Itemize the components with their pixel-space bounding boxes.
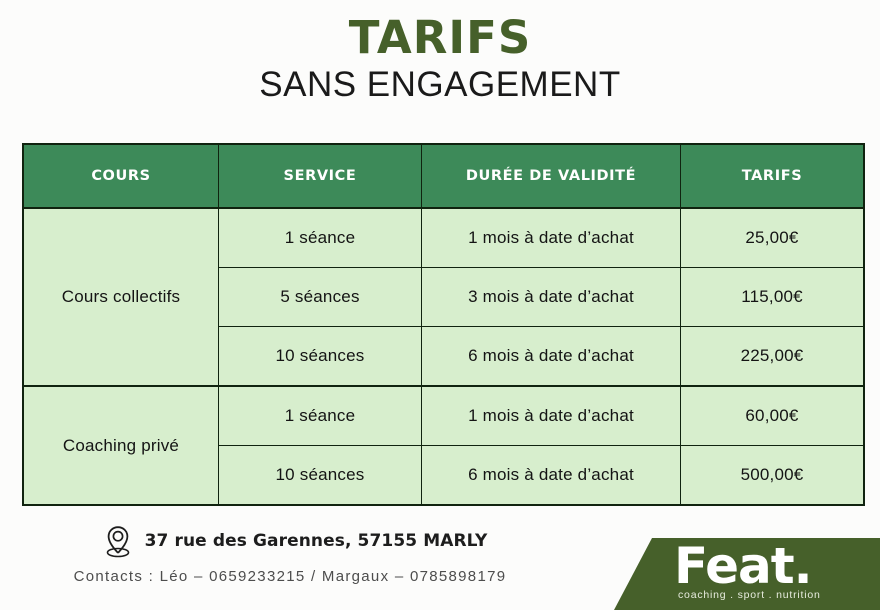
brand-tagline: coaching . sport . nutrition (674, 589, 874, 601)
location-pin-icon (103, 524, 133, 558)
cell-service: 10 séances (219, 327, 422, 387)
cell-service: 5 séances (219, 268, 422, 327)
page-header: TARIFS SANS ENGAGEMENT (0, 0, 880, 107)
cell-service: 1 séance (219, 208, 422, 268)
footer-contact-block: 37 rue des Garennes, 57155 MARLY Contact… (0, 524, 580, 585)
cell-price: 60,00€ (681, 386, 865, 446)
address-text: 37 rue des Garennes, 57155 MARLY (145, 531, 488, 551)
table-header: COURS SERVICE DURÉE DE VALIDITÉ TARIFS (23, 144, 864, 208)
brand-logo-inner: Feat. coaching . sport . nutrition (674, 538, 874, 601)
brand-name: Feat. (674, 538, 874, 594)
cell-validity: 6 mois à date d’achat (422, 446, 681, 506)
cell-price: 225,00€ (681, 327, 865, 387)
cell-validity: 1 mois à date d’achat (422, 208, 681, 268)
page-subtitle: SANS ENGAGEMENT (0, 63, 880, 107)
table-header-row: COURS SERVICE DURÉE DE VALIDITÉ TARIFS (23, 144, 864, 208)
page-title: TARIFS (0, 14, 880, 61)
cell-validity: 3 mois à date d’achat (422, 268, 681, 327)
column-header-tarifs: TARIFS (681, 144, 865, 208)
table-body: Cours collectifs 1 séance 1 mois à date … (23, 208, 864, 505)
table-row: Cours collectifs 1 séance 1 mois à date … (23, 208, 864, 268)
table-row: Coaching privé 1 séance 1 mois à date d’… (23, 386, 864, 446)
pricing-table: COURS SERVICE DURÉE DE VALIDITÉ TARIFS C… (22, 143, 865, 506)
cell-validity: 6 mois à date d’achat (422, 327, 681, 387)
contacts-text: Contacts : Léo – 0659233215 / Margaux – … (0, 568, 580, 585)
cell-validity: 1 mois à date d’achat (422, 386, 681, 446)
cell-price: 500,00€ (681, 446, 865, 506)
cell-price: 25,00€ (681, 208, 865, 268)
group-label-coaching-prive: Coaching privé (23, 386, 219, 505)
cell-service: 1 séance (219, 386, 422, 446)
cell-price: 115,00€ (681, 268, 865, 327)
column-header-duree: DURÉE DE VALIDITÉ (422, 144, 681, 208)
cell-service: 10 séances (219, 446, 422, 506)
column-header-cours: COURS (23, 144, 219, 208)
address-row: 37 rue des Garennes, 57155 MARLY (0, 524, 580, 558)
pricing-table-container: COURS SERVICE DURÉE DE VALIDITÉ TARIFS C… (22, 143, 858, 506)
brand-logo: Feat. coaching . sport . nutrition (600, 538, 880, 610)
group-label-cours-collectifs: Cours collectifs (23, 208, 219, 386)
column-header-service: SERVICE (219, 144, 422, 208)
